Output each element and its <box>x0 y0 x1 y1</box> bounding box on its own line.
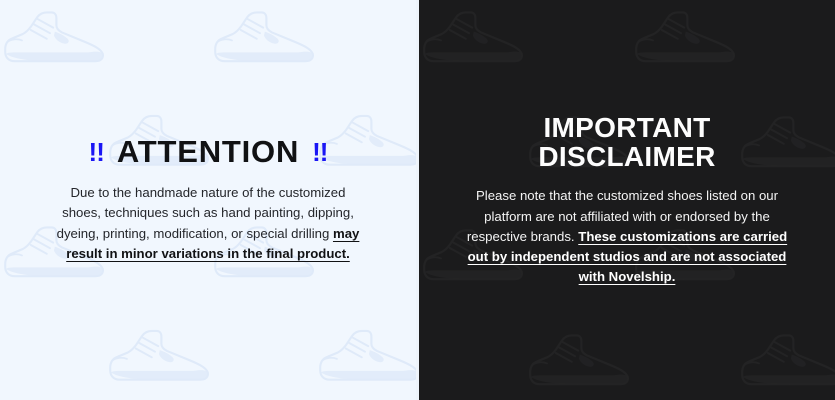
disclaimer-body-text: Please note that the customized shoes li… <box>464 186 790 286</box>
attention-heading-word: ATTENTION <box>117 136 299 167</box>
disclaimer-heading-line-2: DISCLAIMER <box>433 142 821 171</box>
panel-divider <box>416 0 419 400</box>
attention-body-normal: Due to the handmade nature of the custom… <box>57 185 354 240</box>
exclamation-marks-right-icon: !! <box>312 139 327 165</box>
attention-panel-content: !! ATTENTION !! Due to the handmade natu… <box>0 136 416 263</box>
disclaimer-panel-content: IMPORTANT DISCLAIMER Please note that th… <box>419 113 835 287</box>
dual-notice-banner: !! ATTENTION !! Due to the handmade natu… <box>0 0 835 400</box>
attention-heading: !! ATTENTION !! <box>14 136 402 167</box>
attention-panel: !! ATTENTION !! Due to the handmade natu… <box>0 0 416 400</box>
disclaimer-panel: IMPORTANT DISCLAIMER Please note that th… <box>419 0 835 400</box>
disclaimer-heading: IMPORTANT DISCLAIMER <box>433 113 821 171</box>
exclamation-marks-left-icon: !! <box>89 139 104 165</box>
disclaimer-heading-line-1: IMPORTANT <box>433 113 821 142</box>
attention-body-text: Due to the handmade nature of the custom… <box>52 183 364 263</box>
